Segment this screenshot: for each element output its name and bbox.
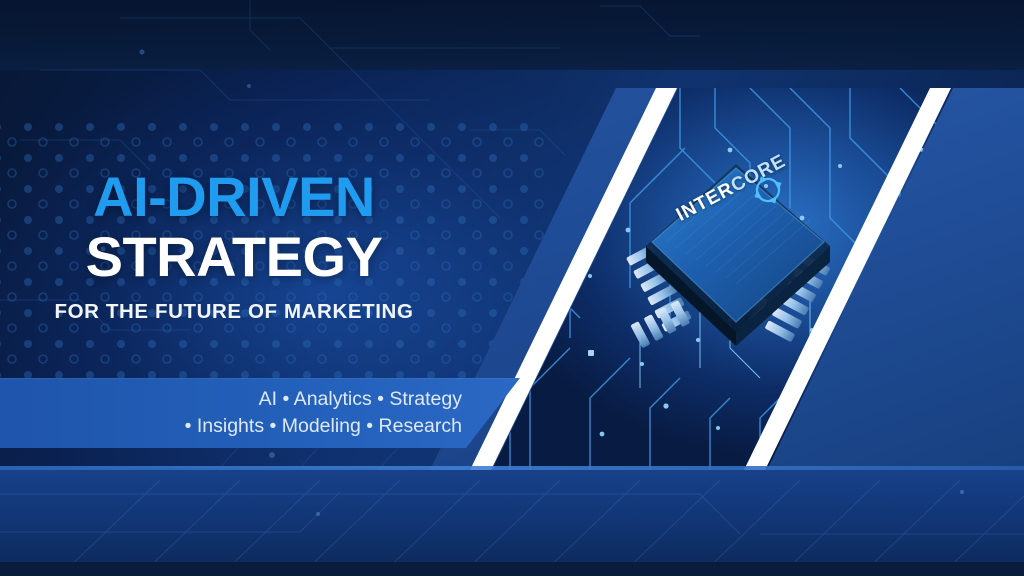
tagline-bar: AI • Analytics • Strategy • Insights • M… xyxy=(0,378,520,448)
headline-line-1: AI-DRIVEN xyxy=(0,168,468,226)
tagline-text: AI • Analytics • Strategy • Insights • M… xyxy=(185,386,462,440)
subtitle: FOR THE FUTURE OF MARKETING xyxy=(0,300,468,324)
panel-bottom-edge xyxy=(0,466,1024,470)
right-graphic-panel: INTERCORE xyxy=(430,88,1024,470)
headline-block: AI-DRIVEN STRATEGY FOR THE FUTURE OF MAR… xyxy=(0,168,468,324)
tagline-line-1: AI • Analytics • Strategy xyxy=(185,386,462,413)
tagline-line-2: • Insights • Modeling • Research xyxy=(185,413,462,440)
bottom-band-traces xyxy=(0,470,1024,576)
footer-dark-strip xyxy=(0,562,1024,576)
bottom-blue-band xyxy=(0,470,1024,576)
headline-line-2: STRATEGY xyxy=(0,228,468,286)
banner-hero: INTERCORE xyxy=(0,0,1024,576)
